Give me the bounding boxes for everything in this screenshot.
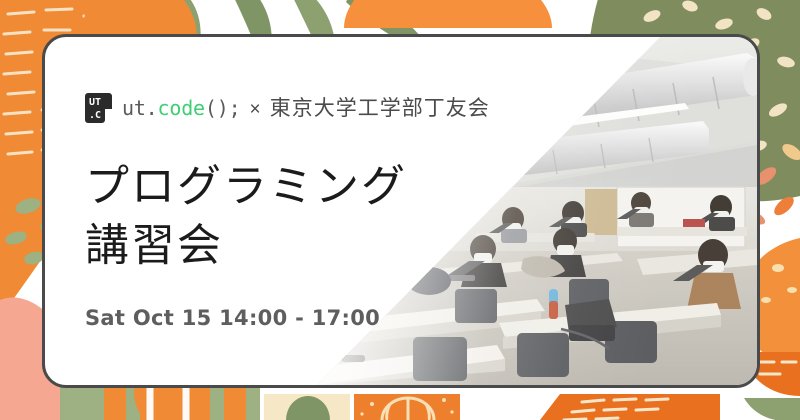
card-content: UT .C ut.code(); × 東京大学工学部丁友会 プログラミング 講習… bbox=[85, 37, 505, 385]
brand-line: UT .C ut.code(); × 東京大学工学部丁友会 bbox=[85, 93, 505, 123]
brand-text: ut.code(); × 東京大学工学部丁友会 bbox=[122, 98, 490, 119]
brand-partner: 東京大学工学部丁友会 bbox=[270, 98, 490, 119]
svg-text:.C: .C bbox=[89, 110, 101, 121]
svg-text:UT: UT bbox=[89, 97, 101, 108]
bg-bottom-dash-block bbox=[540, 394, 720, 420]
brand-mono: ut.code(); bbox=[122, 98, 240, 118]
bg-top-orange-arc bbox=[344, 0, 552, 28]
headline-line-2: 講習会 bbox=[85, 216, 505, 275]
brand-mono-suffix: (); bbox=[205, 96, 241, 120]
event-card: UT .C ut.code(); × 東京大学工学部丁友会 プログラミング 講習… bbox=[42, 34, 760, 388]
bg-bottom-pumpkin-block bbox=[354, 394, 460, 420]
brand-separator-icon: × bbox=[249, 100, 260, 119]
event-datetime: Sat Oct 15 14:00 - 17:00 bbox=[85, 306, 505, 330]
brand-mono-accent: code bbox=[158, 96, 205, 120]
brand-mono-prefix: ut. bbox=[122, 96, 158, 120]
headline-line-1: プログラミング bbox=[85, 157, 505, 216]
utcode-logo-icon: UT .C bbox=[85, 93, 113, 123]
event-headline: プログラミング 講習会 bbox=[85, 157, 505, 276]
bg-bottom-cream-block bbox=[264, 394, 350, 420]
poster-canvas: UT .C ut.code(); × 東京大学工学部丁友会 プログラミング 講習… bbox=[0, 0, 800, 420]
